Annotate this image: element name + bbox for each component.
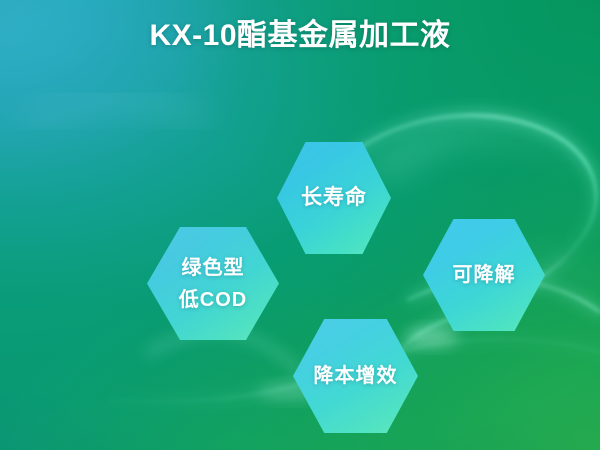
feature-hexagon-long-life[interactable]: 长寿命 (277, 142, 391, 254)
feature-hexagon-label: 长寿命 (301, 185, 367, 211)
feature-hexagon-label: 降本增效 (314, 363, 398, 389)
feature-hexagon-green-low-cod[interactable]: 绿色型 低COD (147, 227, 279, 340)
feature-hexagon-label: 可降解 (453, 262, 516, 288)
feature-hexagon-cost-efficiency[interactable]: 降本增效 (293, 319, 418, 433)
feature-hexagon-biodegradable[interactable]: 可降解 (423, 219, 545, 331)
page-title: KX-10酯基金属加工液 (0, 16, 600, 56)
feature-hexagon-label-line2: 低COD (179, 284, 247, 316)
feature-hexagon-label-line1: 绿色型 (182, 252, 245, 284)
product-poster: KX-10酯基金属加工液 长寿命 绿色型 低COD 可降解 降本增效 (0, 0, 600, 450)
